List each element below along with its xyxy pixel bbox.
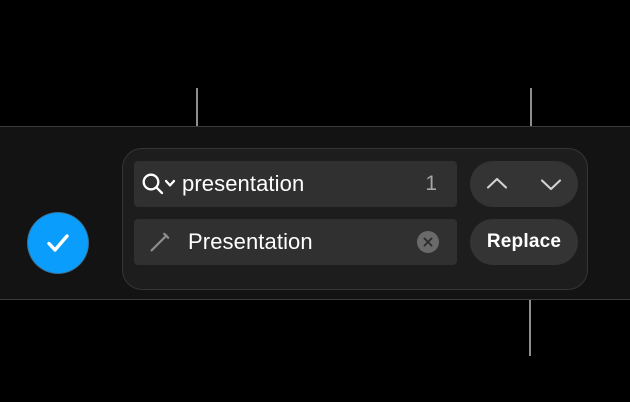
chevron-down-icon[interactable] bbox=[524, 161, 578, 207]
find-input-value[interactable]: presentation bbox=[182, 171, 425, 197]
close-circle-icon[interactable] bbox=[417, 231, 439, 253]
match-count-label: 1 bbox=[425, 172, 457, 196]
find-field[interactable]: presentation 1 bbox=[134, 161, 457, 207]
chevron-up-icon[interactable] bbox=[470, 161, 524, 207]
checkmark-icon bbox=[41, 226, 75, 260]
pencil-icon bbox=[134, 219, 186, 265]
magnifying-glass-with-chevron-icon[interactable] bbox=[134, 161, 186, 207]
replace-button[interactable]: Replace bbox=[470, 219, 578, 265]
replace-input-value[interactable]: Presentation bbox=[188, 229, 417, 255]
find-replace-panel: presentation 1 Presentation bbox=[122, 148, 588, 290]
confirm-done-button[interactable] bbox=[28, 213, 88, 273]
replace-field[interactable]: Presentation bbox=[134, 219, 457, 265]
navigation-pill bbox=[470, 161, 578, 207]
